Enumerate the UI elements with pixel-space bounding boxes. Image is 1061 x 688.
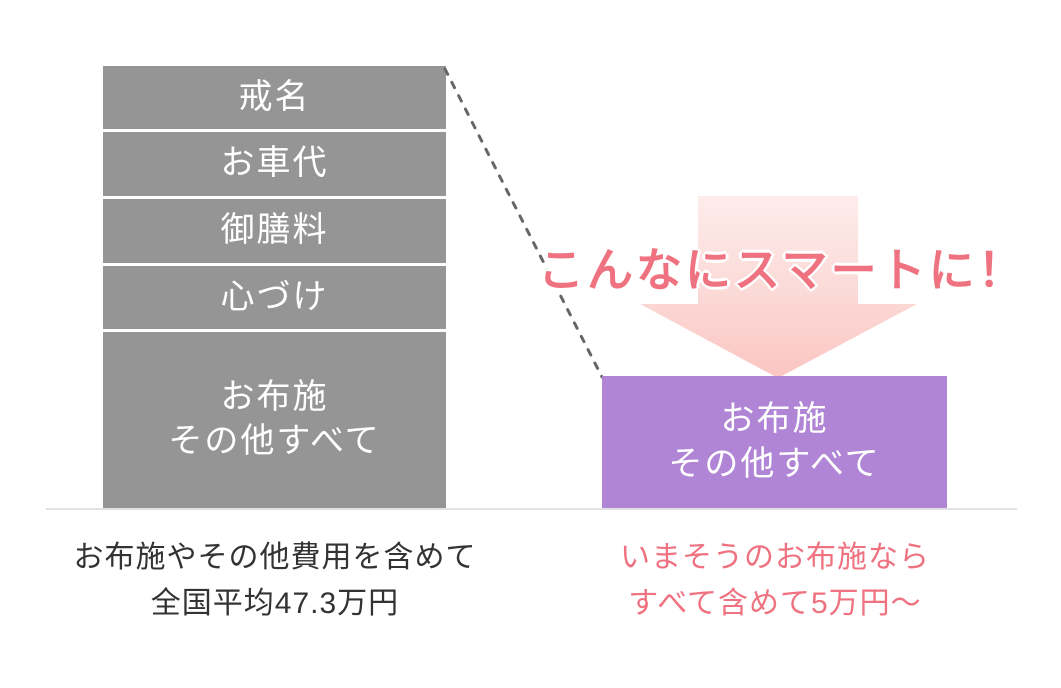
dotted-connector-line [430,55,620,395]
cost-stacked-bar-average: 戒名 お車代 御膳料 心づけ お布施 その他すべて [103,66,446,508]
bar-segment-gozenryo: 御膳料 [103,199,446,266]
headline-text: こんなにスマートに！ [538,234,1027,300]
bar-segment-kokorozuke: 心づけ [103,266,446,332]
bar-segment-kaimyo: 戒名 [103,66,446,132]
comparison-infographic: 戒名 お車代 御膳料 心づけ お布施 その他すべて こんなにスマートに！ お布施… [0,0,1061,688]
cost-bar-imaso: お布施 その他すべて [602,376,947,508]
bar-segment-okurumadai: お車代 [103,132,446,199]
baseline-axis [46,508,1017,510]
caption-imaso-cost: いまそうのお布施なら すべて含めて5万円〜 [560,535,990,626]
bar-segment-ofuse-other: お布施 その他すべて [103,332,446,508]
caption-average-cost: お布施やその他費用を含めて 全国平均47.3万円 [46,535,504,626]
